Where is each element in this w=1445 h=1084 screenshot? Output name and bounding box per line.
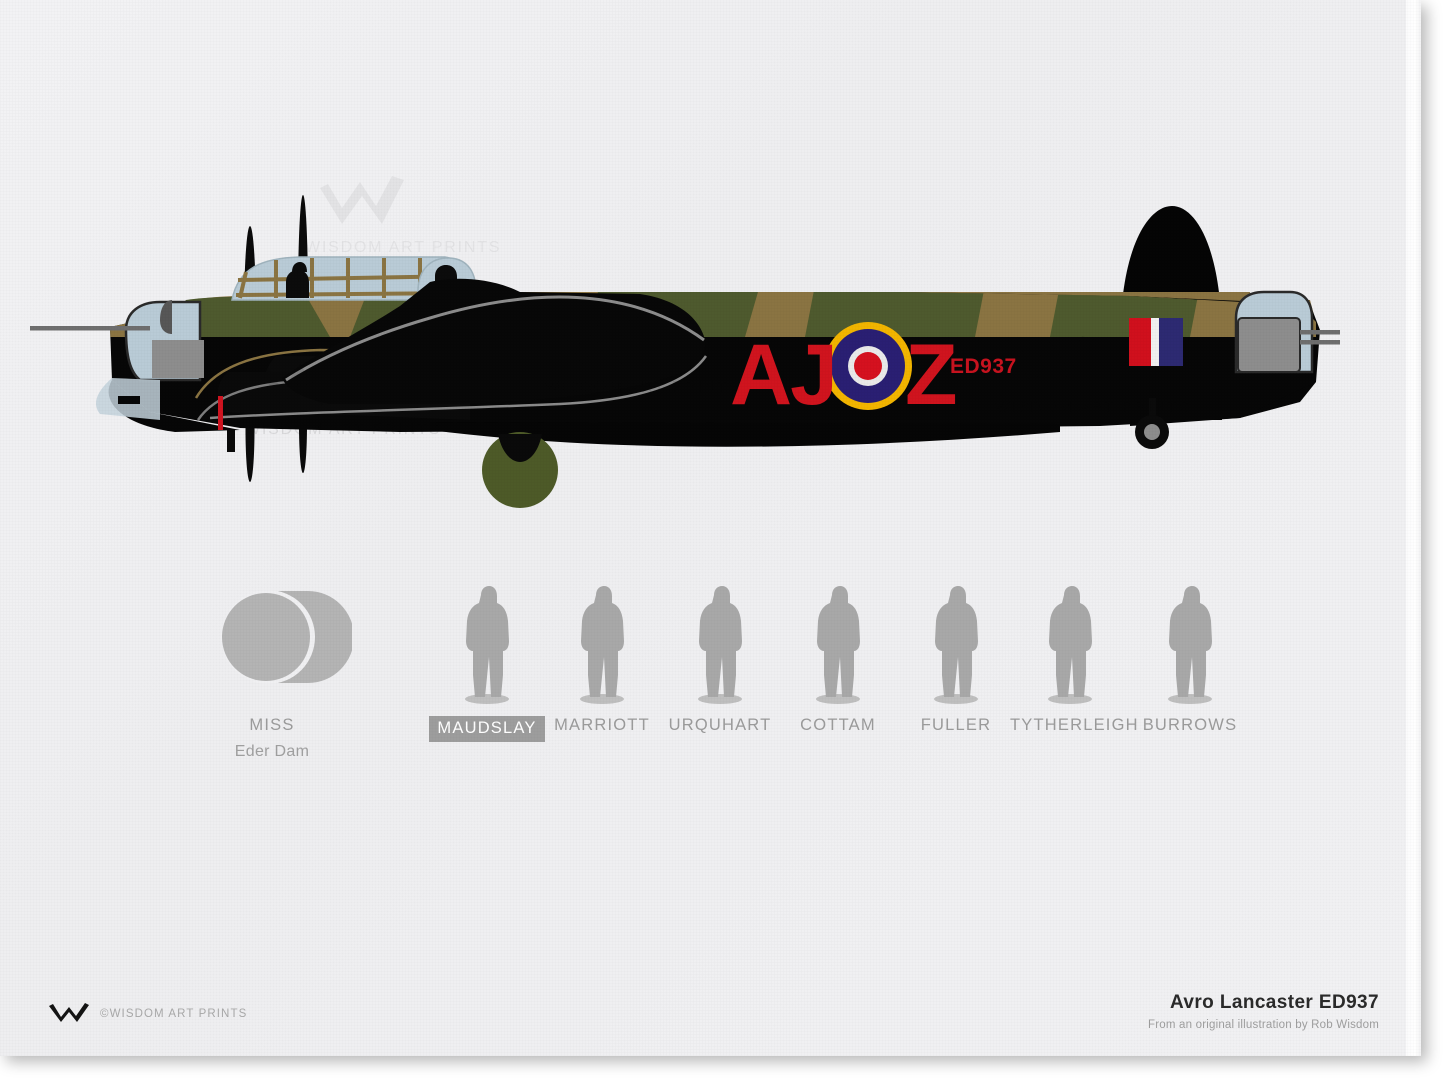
crew-label: MARRIOTT — [542, 716, 662, 735]
crew-figure-icon — [542, 585, 662, 705]
crew-figure-icon — [660, 585, 780, 705]
crew-item-fuller[interactable]: FULLER — [896, 585, 1016, 735]
crew-item-tytherleigh[interactable]: TYTHERLEIGH — [1010, 585, 1130, 735]
crew-item-maudslay[interactable]: MAUDSLAY — [427, 585, 547, 742]
rear-turret — [1236, 292, 1340, 372]
crew-figure-icon — [427, 585, 547, 705]
crew-row: MISS Eder Dam MAUDSLAY — [212, 585, 1272, 775]
bomb-aimer-blister — [96, 378, 160, 420]
canvas-print: AJ Z ED937 WISDOM ART PRINTS WISDOM ART … — [0, 0, 1421, 1056]
watermark-text: WISDOM ART PRINTS — [245, 421, 441, 438]
print-credit: From an original illustration by Rob Wis… — [1148, 1019, 1379, 1031]
watermark-text: WISDOM ART PRINTS — [545, 379, 741, 396]
footer-right: Avro Lancaster ED937 From an original il… — [1148, 992, 1379, 1031]
watermark-text: WISDOM ART PRINTS — [305, 239, 501, 256]
crew-sublabel: Eder Dam — [212, 743, 332, 761]
copyright-text: ©WISDOM ART PRINTS — [100, 1008, 247, 1020]
serial-number: ED937 — [950, 355, 1017, 378]
fin-flash — [1129, 318, 1183, 366]
screenshot-root: AJ Z ED937 WISDOM ART PRINTS WISDOM ART … — [0, 0, 1445, 1084]
nose-gun-barrel — [30, 326, 150, 331]
crew-item-marriott[interactable]: MARRIOTT — [542, 585, 662, 735]
wisdom-w-logo-icon — [48, 1003, 90, 1025]
footer-left: ©WISDOM ART PRINTS — [48, 1003, 247, 1025]
crew-figure-icon — [1010, 585, 1130, 705]
aircraft-illustration: AJ Z ED937 WISDOM ART PRINTS WISDOM ART … — [0, 0, 1421, 1056]
crew-item-urquhart[interactable]: URQUHART — [660, 585, 780, 735]
red-fuselage-stripe — [218, 396, 223, 430]
rear-gun-barrel-upper — [1300, 330, 1340, 335]
raf-roundel — [824, 322, 912, 410]
crew-label: FULLER — [896, 716, 1016, 735]
crew-item-cottam[interactable]: COTTAM — [778, 585, 898, 735]
dam-bomb-icon — [212, 585, 332, 705]
main-landing-gear — [482, 432, 558, 508]
crew-figure-icon — [896, 585, 1016, 705]
crew-label: TYTHERLEIGH — [1010, 716, 1130, 735]
print-title: Avro Lancaster ED937 — [1148, 992, 1379, 1014]
rear-gun-barrel-lower — [1300, 340, 1340, 345]
crew-item-miss[interactable]: MISS Eder Dam — [212, 585, 332, 761]
crew-label: URQUHART — [660, 716, 780, 735]
pitot-mast — [227, 430, 235, 452]
crew-label: COTTAM — [778, 716, 898, 735]
squadron-code-left: AJ — [730, 327, 836, 423]
crew-label: MAUDSLAY — [429, 716, 544, 742]
crew-label: MISS — [212, 716, 332, 735]
watermark-text: WISDOM ART PRINTS — [995, 399, 1191, 416]
crew-label: BURROWS — [1130, 716, 1250, 735]
crew-item-burrows[interactable]: BURROWS — [1130, 585, 1250, 735]
crew-figure-icon — [1130, 585, 1250, 705]
crew-figure-icon — [778, 585, 898, 705]
